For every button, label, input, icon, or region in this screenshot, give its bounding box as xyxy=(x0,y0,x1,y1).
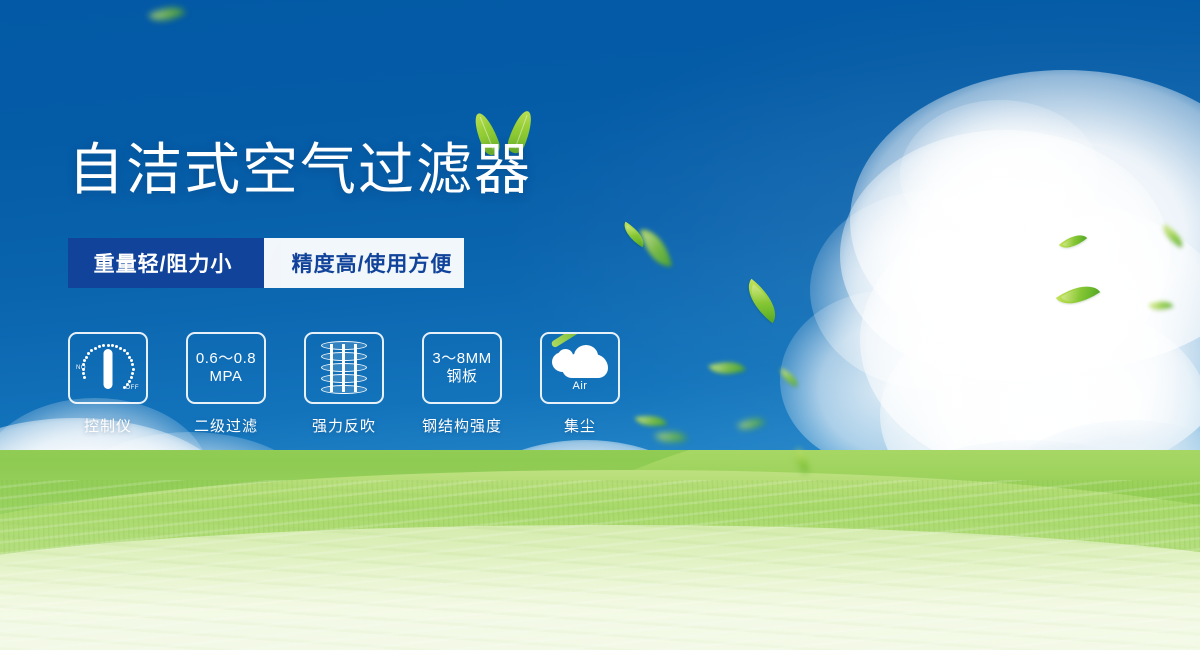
coil-ring xyxy=(321,352,367,361)
gauge-tick xyxy=(132,368,135,371)
gauge-tick xyxy=(115,345,118,348)
cloud-shape xyxy=(850,70,1200,370)
cloud-shape xyxy=(810,190,1060,390)
feature-label: 钢结构强度 xyxy=(422,415,502,436)
gauge-tick xyxy=(126,383,129,386)
subtitle-right: 精度高/使用方便 xyxy=(264,238,464,288)
cloud-streak xyxy=(550,332,579,348)
gauge-tick xyxy=(85,356,88,359)
meadow xyxy=(0,450,1200,650)
gauge-tick xyxy=(87,352,90,355)
gauge-tick xyxy=(130,376,133,379)
feature-label: 集尘 xyxy=(564,415,596,436)
leaf-icon xyxy=(708,355,745,381)
feature-icon-box: 0.6～0.8 MPA xyxy=(186,332,266,404)
leaf-icon xyxy=(777,368,802,387)
feature-item-steel-strength[interactable]: 3～8MM 钢板 钢结构强度 xyxy=(422,332,502,436)
feature-icon-box xyxy=(304,332,384,404)
gauge-tick xyxy=(131,363,134,366)
coil-ring xyxy=(321,363,367,372)
feature-item-controller[interactable]: NO OFF 控制仪 xyxy=(68,332,148,436)
leaf-icon xyxy=(148,0,186,29)
gauge-tick xyxy=(130,359,133,362)
feature-icon-box: Air xyxy=(540,332,620,404)
gauge-tick xyxy=(128,380,131,383)
cloud-shape xyxy=(900,100,1100,250)
gauge-tick xyxy=(82,372,85,375)
cloud-body xyxy=(562,354,608,378)
gauge-tick xyxy=(131,372,134,375)
coil-ring xyxy=(321,341,367,350)
gauge-on-label: NO xyxy=(76,365,86,371)
subtitle-bar: 重量轻/阻力小 精度高/使用方便 xyxy=(68,238,464,288)
leaf-icon xyxy=(1059,228,1087,255)
leaf-icon xyxy=(1149,296,1174,314)
gauge-tick xyxy=(83,359,86,362)
coil-ring xyxy=(321,374,367,383)
gauge-icon: NO OFF xyxy=(77,340,139,396)
leaf-icon xyxy=(619,222,650,248)
leaf-icon xyxy=(640,225,672,271)
leaf-icon xyxy=(737,412,766,435)
feature-label: 强力反吹 xyxy=(312,415,376,436)
feature-list: NO OFF 控制仪 0.6～0.8 MPA 二级过滤 xyxy=(68,332,620,436)
coil-icon xyxy=(321,341,367,395)
coil-ring xyxy=(321,385,367,394)
leaf-icon xyxy=(635,411,667,431)
feature-icon-box: 3～8MM 钢板 xyxy=(422,332,502,404)
feature-value-line2: MPA xyxy=(210,368,243,386)
cloud-shape xyxy=(780,290,1000,470)
cloud-shape xyxy=(860,200,1200,480)
gauge-tick xyxy=(102,344,105,347)
gauge-tick xyxy=(94,347,97,350)
gauge-needle xyxy=(104,349,113,389)
cloud-shape xyxy=(840,130,1170,380)
feature-item-backblow[interactable]: 强力反吹 xyxy=(304,332,384,436)
leaf-icon xyxy=(1056,276,1100,315)
leaf-icon xyxy=(738,279,786,323)
gauge-tick xyxy=(98,345,101,348)
feature-item-dust-collection[interactable]: Air 集尘 xyxy=(540,332,620,436)
feature-label: 控制仪 xyxy=(84,415,132,436)
feature-label: 二级过滤 xyxy=(194,415,258,436)
gauge-tick xyxy=(126,352,129,355)
feature-value-line2: 钢板 xyxy=(446,368,477,386)
feature-value-line1: 0.6～0.8 xyxy=(196,350,256,368)
product-banner: 自洁式空气过滤器 重量轻/阻力小 精度高/使用方便 NO OFF 控制仪 0.6… xyxy=(0,0,1200,650)
feature-value-line1: 3～8MM xyxy=(432,350,491,368)
gauge-tick xyxy=(107,344,110,347)
gauge-tick xyxy=(90,349,93,352)
leaf-icon xyxy=(655,426,688,448)
feature-item-two-stage-filter[interactable]: 0.6～0.8 MPA 二级过滤 xyxy=(186,332,266,436)
gauge-tick xyxy=(119,347,122,350)
gauge-tick xyxy=(123,386,126,389)
field-glow xyxy=(0,560,1200,650)
gauge-tick xyxy=(111,344,114,347)
subtitle-left: 重量轻/阻力小 xyxy=(68,238,264,288)
gauge-tick xyxy=(123,349,126,352)
feature-icon-box: NO OFF xyxy=(68,332,148,404)
page-title: 自洁式空气过滤器 xyxy=(68,142,532,198)
gauge-tick xyxy=(128,356,131,359)
cloud-icon xyxy=(552,344,608,378)
gauge-tick xyxy=(82,368,85,371)
air-label: Air xyxy=(573,380,588,392)
leaf-icon xyxy=(1159,224,1188,247)
gauge-tick xyxy=(83,376,86,379)
